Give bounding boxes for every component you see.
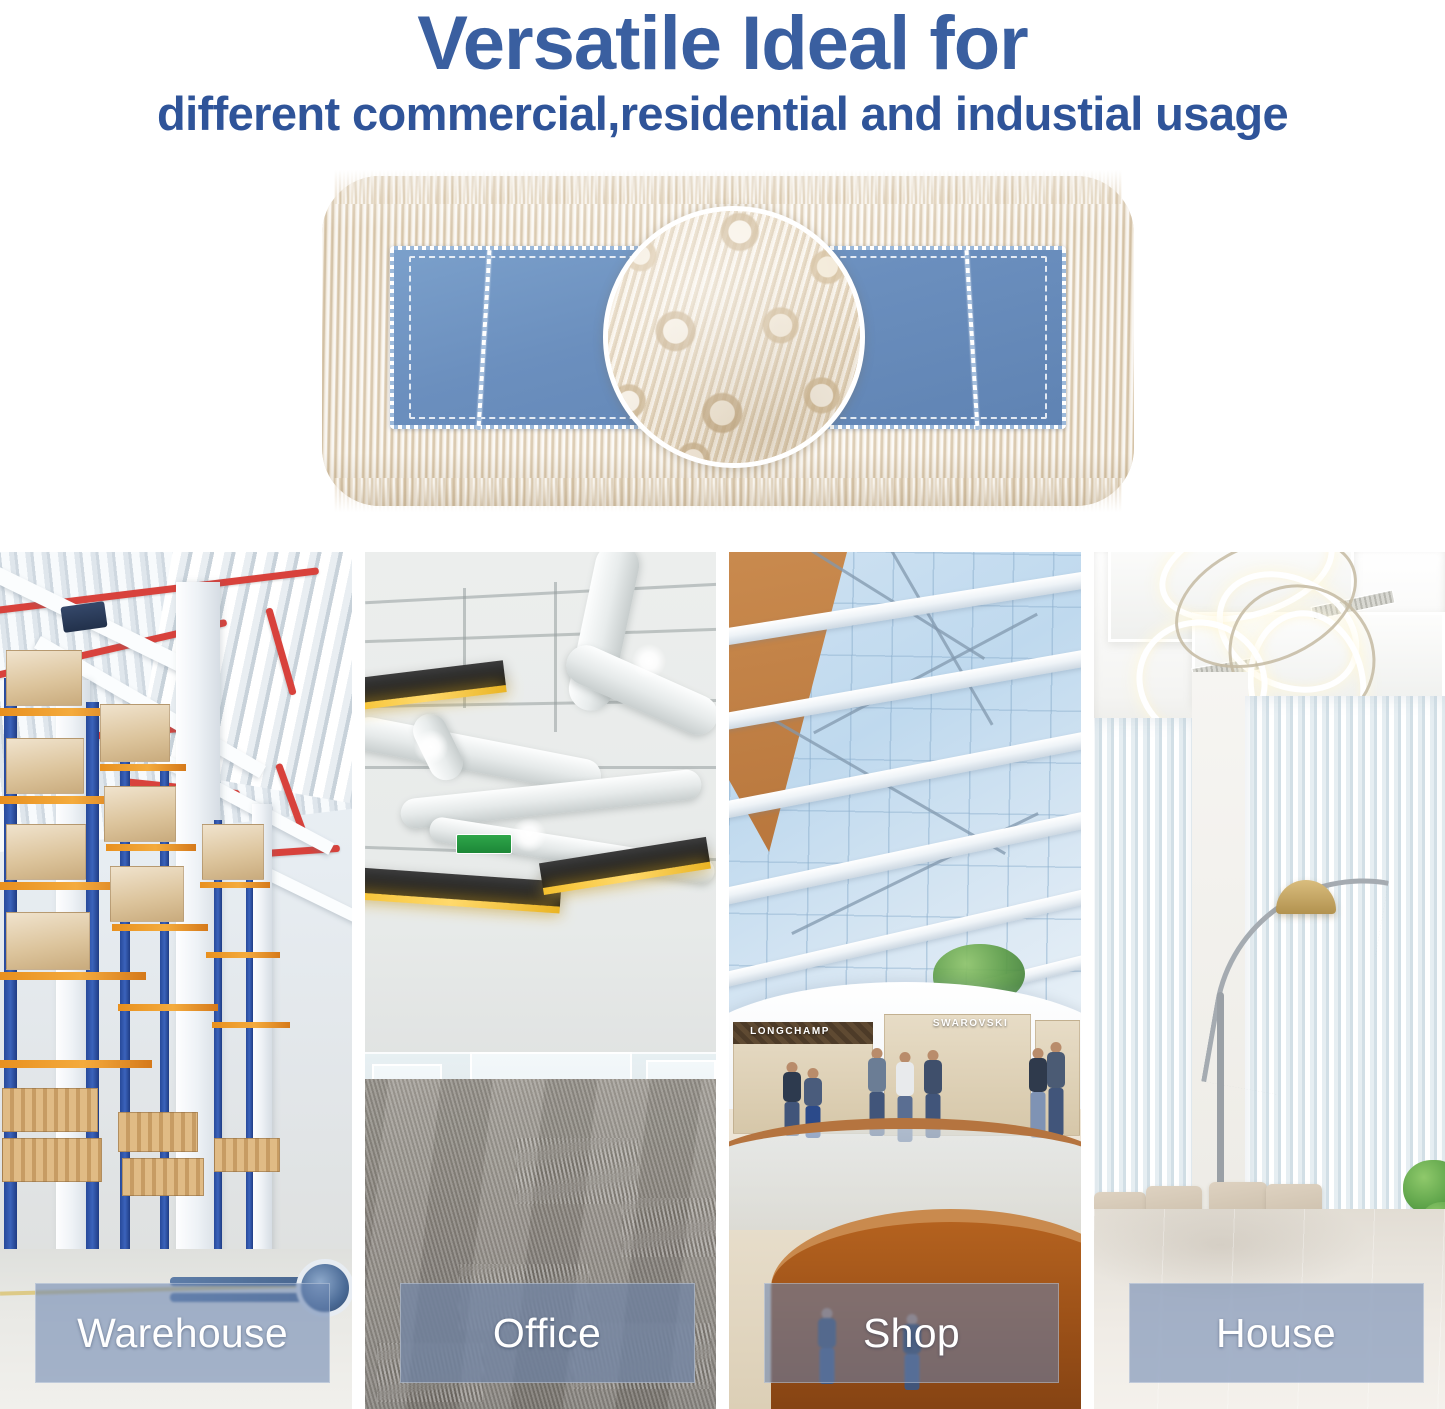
rack-beam [100, 764, 186, 771]
stored-carton [104, 786, 176, 842]
pallet-rack-upright [246, 852, 253, 1297]
shopper-torso [924, 1060, 942, 1094]
rack-beam [118, 1004, 218, 1011]
panel-warehouse[interactable]: Warehouse [0, 552, 352, 1409]
house-photo [1094, 552, 1445, 1409]
panel-house[interactable]: House [1094, 552, 1445, 1409]
use-case-panel-row: Warehouse [0, 552, 1445, 1409]
panel-label-shop: Shop [764, 1283, 1059, 1383]
panel-shop[interactable]: LONGCHAMP SWAROVSKI [729, 552, 1081, 1409]
ceiling-light-glow [632, 644, 666, 678]
shopper-torso [804, 1078, 822, 1106]
stored-carton [6, 738, 84, 794]
rack-beam [212, 1022, 290, 1028]
ceiling-light-glow [512, 818, 546, 852]
rack-beam [106, 844, 196, 851]
fringe-fray-top [334, 170, 1122, 204]
stored-carton [6, 912, 90, 970]
linear-pendant-light [365, 660, 507, 706]
shopper-torso [1047, 1052, 1065, 1088]
store-sign-longchamp: LONGCHAMP [750, 1026, 830, 1037]
product-infographic-page: Versatile Ideal for different commercial… [0, 0, 1445, 1409]
hero-product-image [322, 176, 1134, 506]
wood-pallet [118, 1112, 198, 1152]
ceiling-light-glow [414, 730, 448, 764]
shopper-torso [896, 1062, 914, 1096]
stored-carton [100, 704, 170, 762]
headline-block: Versatile Ideal for different commercial… [0, 0, 1445, 150]
stored-carton [110, 866, 184, 922]
panel-office[interactable]: Office [365, 552, 717, 1409]
store-sign-swarovski: SWAROVSKI [933, 1018, 1009, 1029]
carpet-tile [622, 1198, 716, 1257]
rack-beam [112, 924, 208, 931]
rack-beam [0, 972, 146, 980]
rack-beam [0, 1060, 152, 1068]
stored-carton [6, 824, 86, 880]
panel-label-house: House [1129, 1283, 1424, 1383]
shopper-torso [783, 1072, 801, 1102]
panel-label-text: Office [493, 1313, 601, 1354]
stored-carton [6, 650, 82, 706]
shopper-torso [868, 1058, 886, 1092]
office-photo [365, 552, 717, 1409]
shopper-legs [1048, 1088, 1063, 1136]
warehouse-photo [0, 552, 352, 1409]
shopper-torso [1029, 1058, 1047, 1092]
exit-sign [456, 834, 512, 854]
rack-beam [206, 952, 280, 958]
yarn-closeup-inset [603, 206, 865, 468]
pallet-rack-upright [214, 820, 222, 1297]
panel-label-office: Office [400, 1283, 695, 1383]
looped-yarn-texture [603, 206, 865, 468]
pallet-rack-upright [86, 702, 99, 1297]
page-title: Versatile Ideal for [0, 0, 1445, 84]
ceiling-conduit [365, 628, 716, 643]
panel-label-warehouse: Warehouse [35, 1283, 330, 1383]
rack-beam [200, 882, 270, 888]
wood-pallet [214, 1138, 280, 1172]
wood-pallet [2, 1088, 98, 1132]
panel-label-text: House [1216, 1313, 1336, 1354]
wood-pallet [2, 1138, 102, 1182]
shop-photo: LONGCHAMP SWAROVSKI [729, 552, 1081, 1409]
panel-label-text: Warehouse [77, 1313, 288, 1354]
carpet-tile [516, 1138, 638, 1204]
ceiling-conduit [554, 582, 557, 732]
ceiling-conduit [365, 583, 716, 604]
fringe-fray-bottom [334, 478, 1122, 512]
page-subtitle: different commercial,residential and ind… [0, 84, 1445, 141]
wood-pallet [122, 1158, 204, 1196]
linear-pendant-light [365, 866, 562, 907]
stored-carton [202, 824, 264, 880]
panel-label-text: Shop [863, 1313, 960, 1354]
